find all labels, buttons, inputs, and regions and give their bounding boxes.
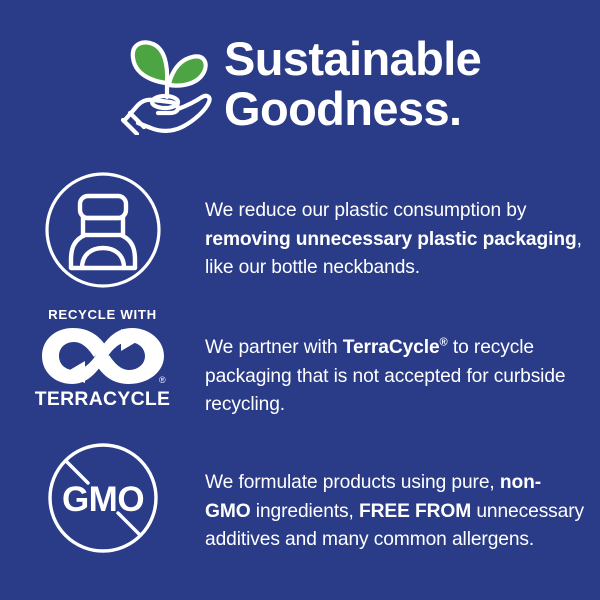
feature-row-gmo: GMO We formulate products using pure, no… <box>0 440 600 574</box>
feature-row-plastic: We reduce our plastic consumption by rem… <box>0 168 600 302</box>
plastic-bottle-circle-icon <box>44 170 162 290</box>
no-gmo-circle-icon: GMO <box>47 442 159 554</box>
gmo-label: GMO <box>61 480 143 519</box>
feature-text-terracycle: We partner with TerraCycle® to recycle p… <box>205 334 586 420</box>
feature-text-gmo: We formulate products using pure, non-GM… <box>205 469 586 555</box>
terracycle-bottom-label: TERRACYCLE <box>35 388 171 410</box>
text-cell-plastic: We reduce our plastic consumption by rem… <box>205 168 600 302</box>
hand-holding-sprout-icon <box>120 35 212 135</box>
feature-text-plastic: We reduce our plastic consumption by rem… <box>205 197 586 283</box>
text-cell-terracycle: We partner with TerraCycle® to recycle p… <box>205 305 600 439</box>
icon-cell-terracycle: RECYCLE WITH ® TERRACYCLE <box>0 305 205 410</box>
text-cell-gmo: We formulate products using pure, non-GM… <box>205 440 600 574</box>
terracycle-registered-mark: ® <box>159 375 166 385</box>
page-title: Sustainable Goodness. <box>224 34 481 134</box>
terracycle-top-label: RECYCLE WITH <box>48 307 157 322</box>
terracycle-infinity-icon: ® <box>39 325 167 387</box>
icon-cell-gmo: GMO <box>0 440 205 554</box>
terracycle-logo: RECYCLE WITH ® TERRACYCLE <box>39 307 167 410</box>
icon-cell-bottle <box>0 168 205 290</box>
sustainable-goodness-poster: Sustainable Goodness. We reduce our plas… <box>0 0 600 600</box>
header: Sustainable Goodness. <box>0 24 600 144</box>
feature-row-terracycle: RECYCLE WITH ® TERRACYCLE We partner wit… <box>0 305 600 439</box>
